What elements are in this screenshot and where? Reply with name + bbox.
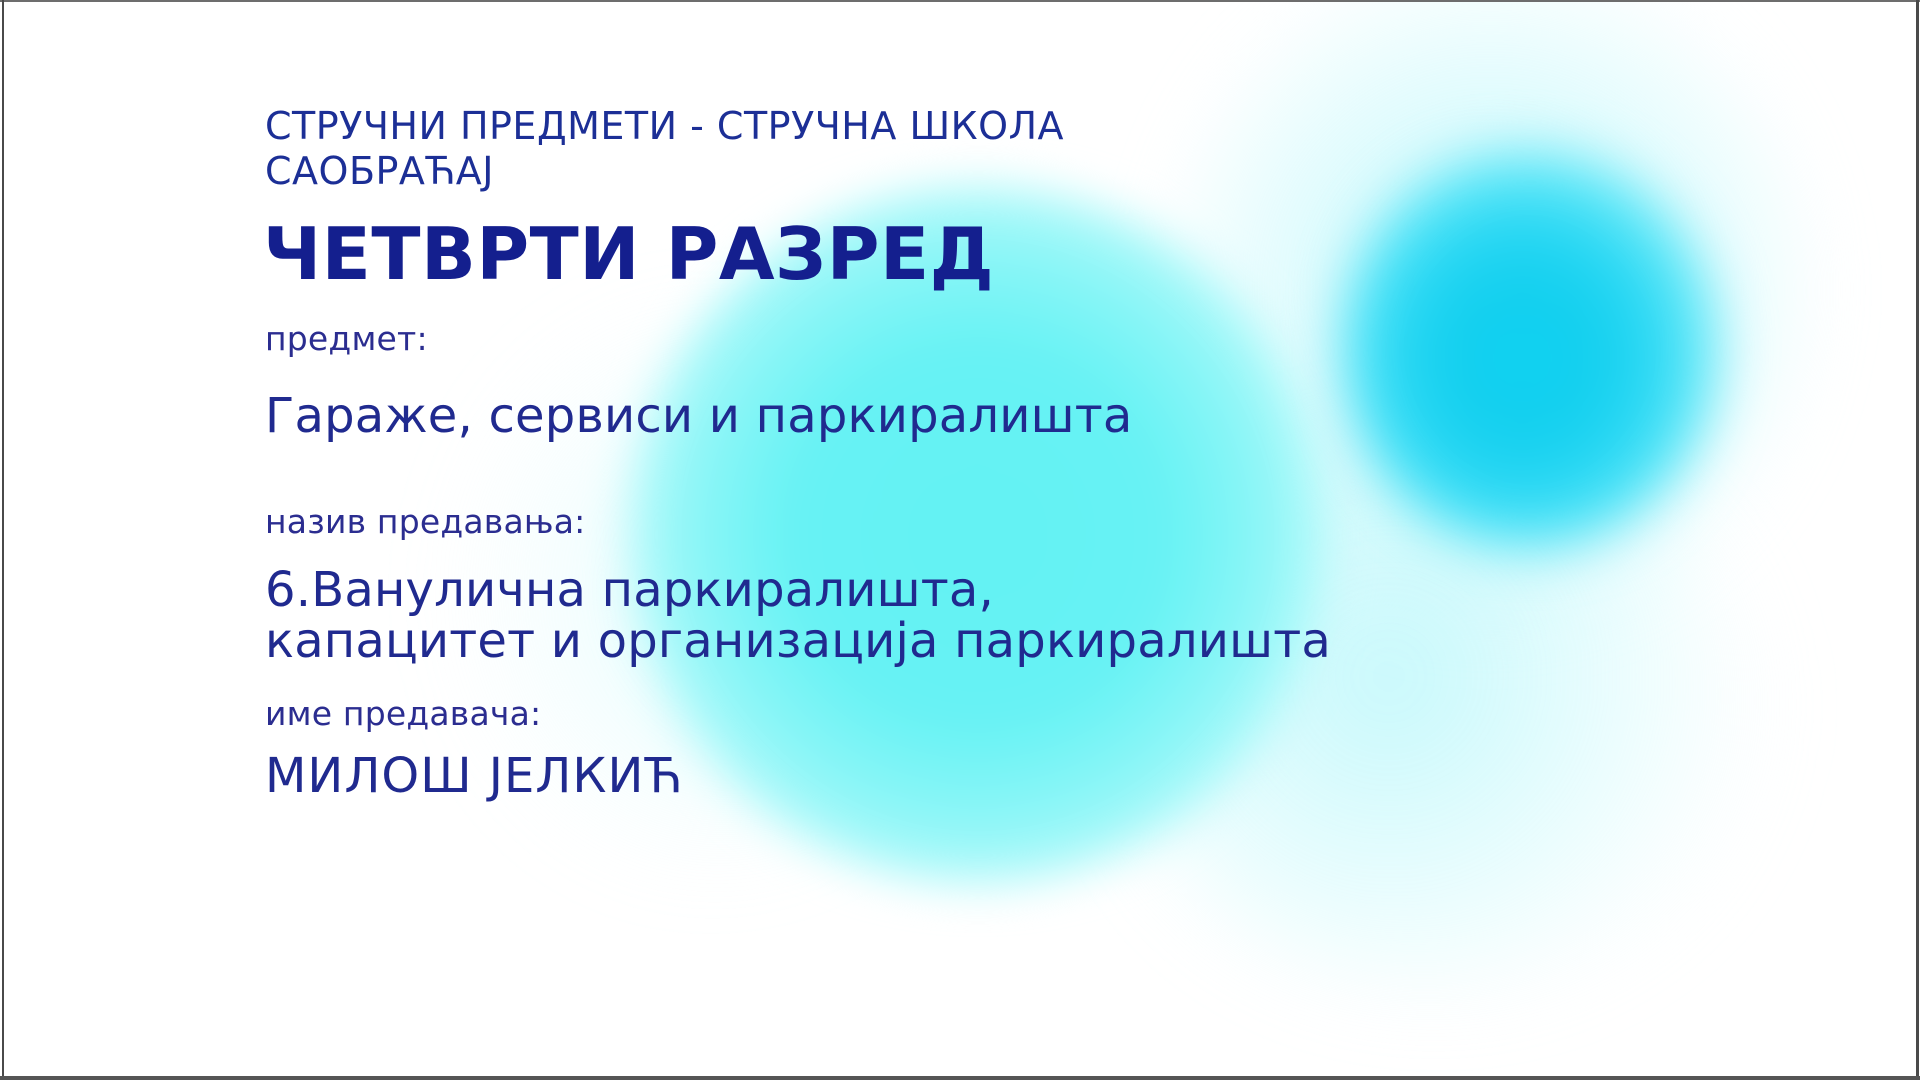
grade-heading: ЧЕТВРТИ РАЗРЕД xyxy=(263,218,994,290)
course-kicker: СТРУЧНИ ПРЕДМЕТИ - СТРУЧНА ШКОЛА САОБРАЋ… xyxy=(265,104,1064,194)
lecturer-label: име предавача: xyxy=(265,697,541,730)
frame-edge-right xyxy=(1916,0,1919,1080)
slide-text-block: СТРУЧНИ ПРЕДМЕТИ - СТРУЧНА ШКОЛА САОБРАЋ… xyxy=(265,0,1665,1080)
subject-value: Гараже, сервиси и паркиралишта xyxy=(265,392,1133,440)
lecture-title-value: 6.Ванулична паркиралишта, капацитет и ор… xyxy=(265,565,1331,667)
frame-edge-left xyxy=(2,0,4,1080)
subject-label: предмет: xyxy=(265,322,428,355)
lecture-title-label: назив предавања: xyxy=(265,505,585,538)
lecturer-name: МИЛОШ ЈЕЛКИЋ xyxy=(265,752,683,800)
lecture-title-slide: СТРУЧНИ ПРЕДМЕТИ - СТРУЧНА ШКОЛА САОБРАЋ… xyxy=(0,0,1920,1080)
